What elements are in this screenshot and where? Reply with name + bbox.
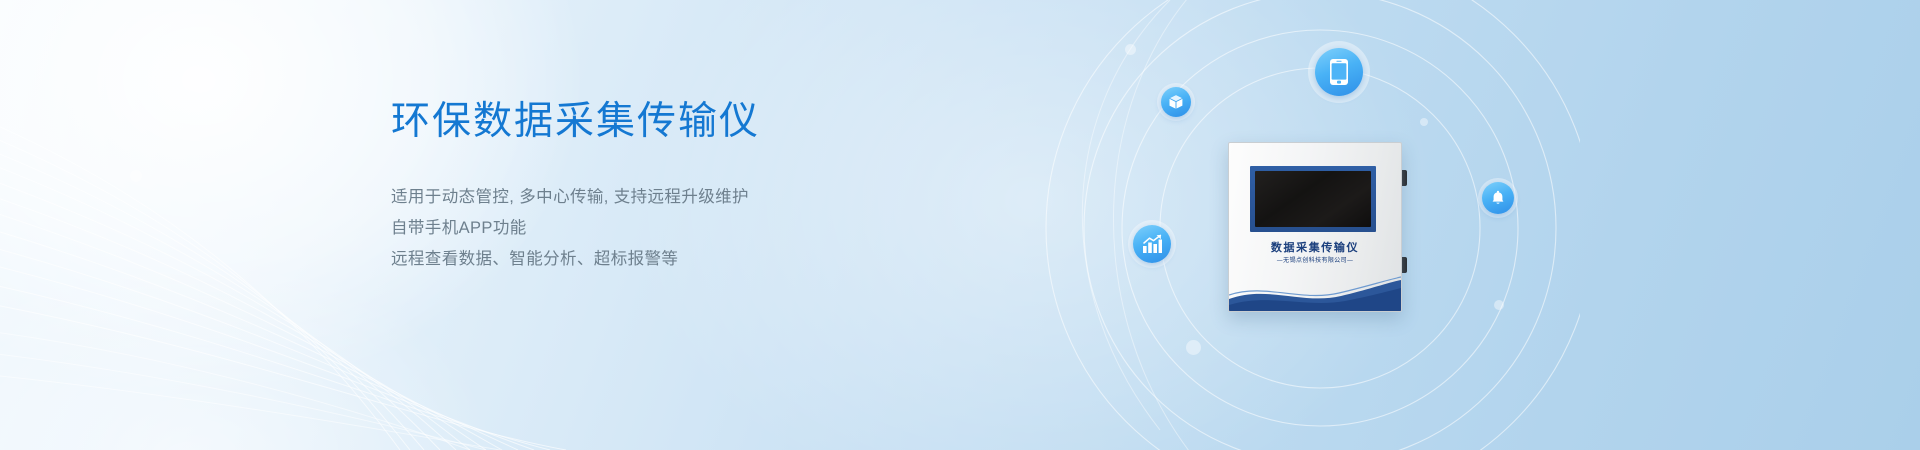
device-brand-label: 数据采集传输仪 <box>1229 239 1401 255</box>
box-icon <box>1161 87 1191 117</box>
alarm-icon <box>1482 182 1514 214</box>
feature-bubble-phone[interactable] <box>1308 41 1370 103</box>
chart-icon <box>1133 225 1171 263</box>
bokeh-dot <box>130 170 142 182</box>
product-hero-banner: 环保数据采集传输仪 适用于动态管控, 多中心传输, 支持远程升级维护 自带手机A… <box>0 0 1920 450</box>
subtitle-line-2: 自带手机APP功能 <box>391 213 911 244</box>
subtitle-line-3: 远程查看数据、智能分析、超标报警等 <box>391 244 911 275</box>
device-screen <box>1255 171 1371 227</box>
feature-bubble-alarm[interactable] <box>1478 178 1518 218</box>
bokeh-dot <box>1186 340 1201 355</box>
device-enclosure: 数据采集传输仪 —无锡点创科技有限公司— <box>1228 142 1402 312</box>
feature-bubble-chart[interactable] <box>1128 220 1176 268</box>
bokeh-dot <box>1494 300 1504 310</box>
hero-text-block: 环保数据采集传输仪 适用于动态管控, 多中心传输, 支持远程升级维护 自带手机A… <box>391 98 911 275</box>
device-company-label: —无锡点创科技有限公司— <box>1229 255 1401 264</box>
phone-icon <box>1315 48 1363 96</box>
page-title: 环保数据采集传输仪 <box>391 98 911 146</box>
bokeh-dot <box>1125 44 1136 55</box>
feature-bubble-box[interactable] <box>1157 83 1195 121</box>
product-device-image: 数据采集传输仪 —无锡点创科技有限公司— <box>1228 142 1408 310</box>
device-screen-bezel <box>1250 166 1376 232</box>
device-wave-graphic <box>1229 275 1401 311</box>
bokeh-dot <box>1420 118 1428 126</box>
subtitle-line-1: 适用于动态管控, 多中心传输, 支持远程升级维护 <box>391 182 911 213</box>
